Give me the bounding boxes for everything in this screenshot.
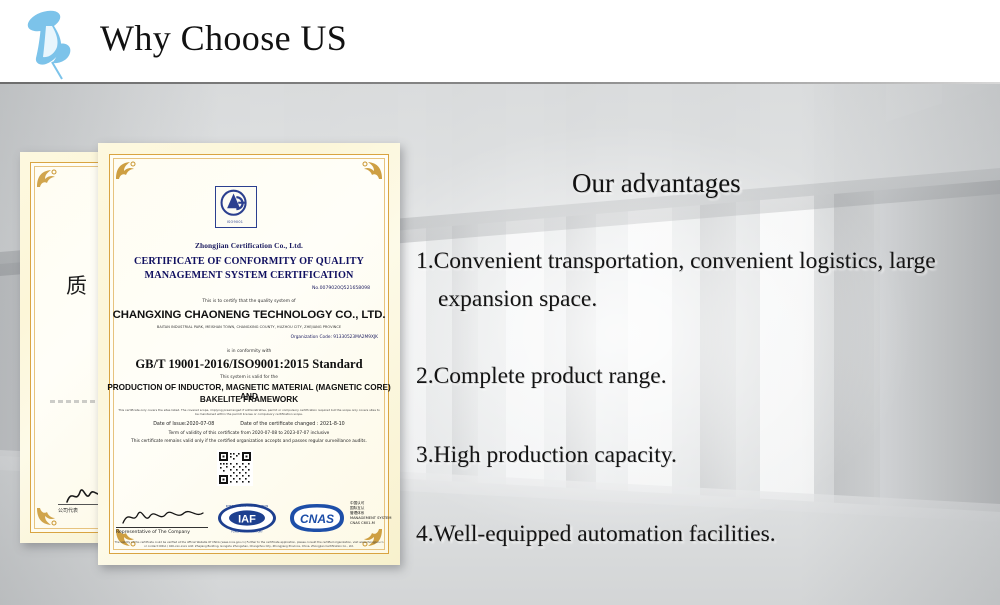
advantages-panel: Our advantages 1.Convenient transportati… (412, 84, 1000, 605)
svg-text:INTERNATIONAL ACCREDITATION: INTERNATIONAL ACCREDITATION (226, 504, 269, 508)
pushpin-icon (16, 6, 92, 80)
certificate-company-name: CHANGXING CHAONENG TECHNOLOGY CO., LTD. (98, 309, 400, 321)
iaf-logo-icon: IAF INTERNATIONAL ACCREDITATION FORUM ML… (216, 501, 278, 535)
certificate-title-line2: MANAGEMENT SYSTEM CERTIFICATION (98, 270, 400, 281)
advantage-text: Well-equipped automation facilities. (434, 521, 776, 547)
certificate-note: This certificate only covers the sites l… (98, 408, 400, 416)
advantage-text: High production capacity. (434, 442, 677, 468)
certificate-term-of-validity: Term of validity of this certificate fro… (98, 431, 400, 436)
certificate-conformity-intro: is in conformity with (98, 349, 400, 354)
signature-label: Representative of The Company (116, 530, 190, 535)
advantage-text: Convenient transportation, convenient lo… (434, 248, 936, 274)
advantage-number: 4. (416, 521, 434, 547)
certificate-standard: GB/T 19001-2016/ISO9001:2015 Standard (98, 357, 400, 372)
svg-text:IAF: IAF (238, 514, 256, 526)
certificate-number: No.0079020Q521658098 (98, 286, 400, 291)
certificate-valid-intro: This system is valid for the (98, 375, 400, 380)
certificate-dates: Date of Issue:2020-07-08Date of the cert… (98, 422, 400, 427)
certificate-date-changed: Date of the certificate changed : 2021-8… (240, 422, 344, 427)
certificate-certify-intro: This is to certify that the quality syst… (98, 299, 400, 304)
svg-text:FORUM MLA SIGNATORY: FORUM MLA SIGNATORY (231, 529, 263, 533)
certificate-footer-note: The validity of this certificate could b… (114, 541, 384, 549)
ornament-icon (358, 159, 384, 181)
certificate-date-of-issue: Date of Issue:2020-07-08 (153, 422, 214, 427)
advantage-text-continuation: expansion space. (438, 280, 996, 318)
ornament-icon (35, 167, 61, 189)
accreditation-line: CNAS C601-M (350, 521, 402, 526)
signature-label: 公司代表 (58, 507, 78, 514)
certificate-title-line1: CERTIFICATE OF CONFORMITY OF QUALITY (98, 256, 400, 267)
advantage-number: 1. (416, 248, 434, 274)
advantage-text: Complete product range. (434, 363, 667, 389)
certificate-company-address: BAITAN INDUSTRIAL PARK, MEISHAN TOWN, CH… (98, 325, 400, 329)
cqc-logo-subtext: ISO9001 (215, 220, 255, 224)
accreditation-text: 中国认可 国际互认 管理体系 MANAGEMENT SYSTEM CNAS C6… (350, 501, 402, 526)
certificate-image-english: ISO9001 Zhongjian Certification Co., Ltd… (98, 143, 400, 565)
advantage-item: 4.Well-equipped automation facilities. (416, 515, 996, 553)
advantage-item: 1.Convenient transportation, convenient … (416, 242, 996, 318)
signature-line (116, 527, 208, 528)
ornament-icon (114, 159, 140, 181)
advantage-item: 2.Complete product range. (416, 357, 996, 395)
signature-mark (120, 506, 206, 528)
certificate-issuer: Zhongjian Certification Co., Ltd. (98, 241, 400, 250)
qr-code-icon (217, 450, 253, 486)
page-root: Why Choose US Our advantages 1.Convenien… (0, 0, 1000, 605)
cnas-logo-icon: CNAS (286, 501, 348, 535)
advantage-item: 3.High production capacity. (416, 436, 996, 474)
advantages-heading: Our advantages (572, 168, 741, 199)
certificate-surveillance-note: This certificate remains valid only if t… (98, 439, 400, 444)
certificate-scope-line2: BAKELITE FRAMEWORK (98, 395, 400, 404)
page-header: Why Choose US (0, 0, 1000, 84)
svg-text:CNAS: CNAS (300, 512, 334, 526)
page-title: Why Choose US (100, 17, 347, 59)
certificate-organization-code: Organization Code: 91330523MA2M9XJK (98, 335, 400, 340)
advantage-number: 2. (416, 363, 434, 389)
advantage-number: 3. (416, 442, 434, 468)
